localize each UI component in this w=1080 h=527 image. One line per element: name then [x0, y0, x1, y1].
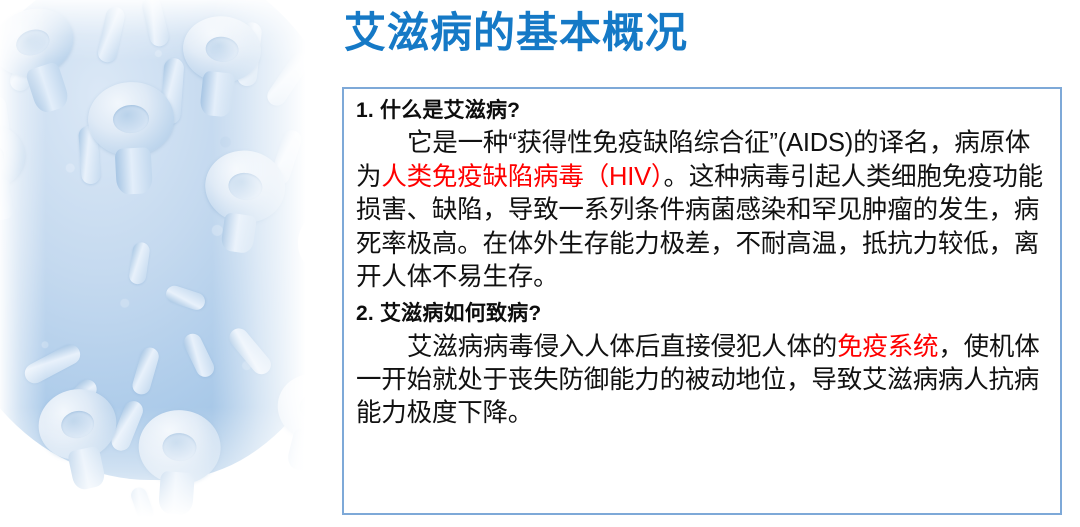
content-column: 艾滋病的基本概况 1. 什么是艾滋病? 它是一种“获得性免疫缺陷综合征”(AID…	[332, 0, 1080, 527]
slide-root: 艾滋病的基本概况 1. 什么是艾滋病? 它是一种“获得性免疫缺陷综合征”(AID…	[0, 0, 1080, 527]
section-2-heading: 2. 艾滋病如何致病?	[356, 300, 1050, 328]
spike-stem	[115, 147, 153, 195]
glycoprotein-spike	[86, 80, 178, 196]
section-1-heading: 1. 什么是艾滋病?	[356, 97, 1050, 125]
section-1-highlight-hiv: 人类免疫缺陷病毒（HIV）	[381, 163, 663, 191]
image-fade-right	[212, 0, 332, 527]
virus-image-stage	[0, 0, 332, 527]
section-2-highlight-immune-system: 免疫系统	[837, 333, 938, 361]
spike-cap	[86, 80, 176, 158]
section-2-paragraph: 艾滋病病毒侵入人体后直接侵犯人体的免疫系统，使机体一开始就处于丧失防御能力的被动…	[356, 331, 1050, 431]
info-textbox: 1. 什么是艾滋病? 它是一种“获得性免疫缺陷综合征”(AIDS)的译名，病原体…	[342, 87, 1062, 515]
page-title: 艾滋病的基本概况	[344, 8, 688, 58]
hiv-virion-image	[0, 0, 332, 527]
section-1-paragraph: 它是一种“获得性免疫缺陷综合征”(AIDS)的译名，病原体为人类免疫缺陷病毒（H…	[356, 127, 1050, 294]
section-2-text-part1: 艾滋病病毒侵入人体后直接侵犯人体的	[407, 333, 837, 361]
